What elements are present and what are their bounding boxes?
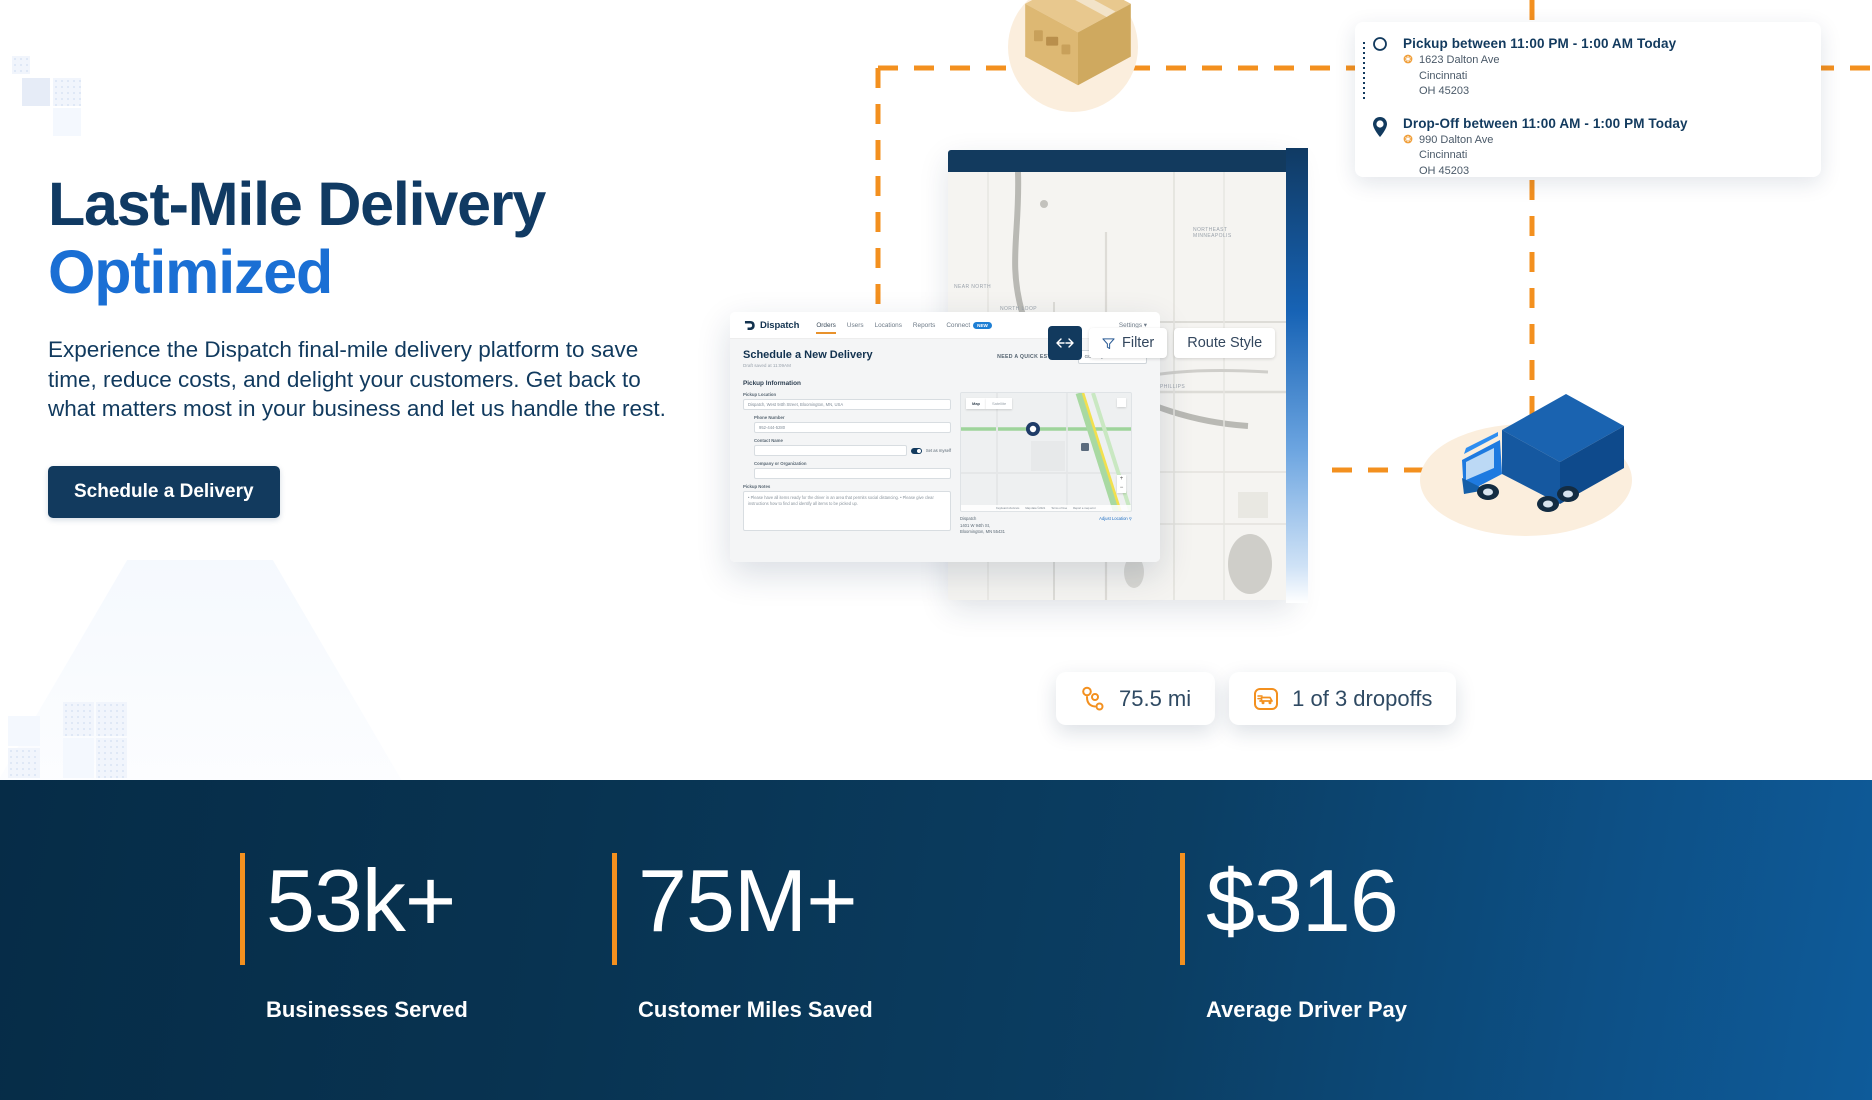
location-marker-icon — [1403, 134, 1413, 144]
dashboard-body: Schedule a New Delivery Draft saved at 1… — [730, 339, 1160, 562]
minimap-attrib-0: Keyboard shortcuts — [996, 507, 1019, 510]
map-area-label-7: PHILLIPS — [1160, 384, 1185, 390]
minimap-zoom-controls[interactable]: + − — [1117, 475, 1126, 493]
stats-band: 53k+ Businesses Served 75M+ Customer Mil… — [0, 780, 1872, 1100]
dropoff-stop: Drop-Off between 11:00 AM - 1:00 PM Toda… — [1371, 116, 1805, 180]
company-group: Company or Organization — [743, 461, 951, 479]
pickup-address: 1623 Dalton Ave Cincinnati OH 45203 — [1403, 53, 1805, 100]
pickup-address-line3: OH 45203 — [1419, 84, 1805, 100]
dropoff-address-line1: 990 Dalton Ave — [1419, 134, 1493, 146]
minimap-address-line3: Bloomington, MN 55431 — [960, 529, 1132, 536]
minimap-tab-map[interactable]: Map — [966, 398, 986, 409]
notes-group: Pickup Notes • Please have all items rea… — [743, 484, 951, 531]
decor-square-solid — [22, 78, 50, 106]
dropoff-heading: Drop-Off between 11:00 AM - 1:00 PM Toda… — [1403, 116, 1805, 131]
route-icon — [1080, 686, 1106, 712]
left-right-arrows-icon — [1056, 338, 1074, 348]
dropoff-pin-icon — [1371, 116, 1389, 138]
title-line-2-accent: Optimiz — [48, 238, 263, 306]
minimap-roads — [961, 393, 1132, 512]
phone-group: Phone Number 952-444-5280 — [743, 415, 951, 433]
company-label: Company or Organization — [754, 461, 951, 466]
location-marker-icon — [1403, 54, 1413, 64]
nav-item-locations[interactable]: Locations — [875, 322, 902, 329]
decor-square-dot-tiny — [12, 56, 30, 74]
minimap-zoom-out[interactable]: − — [1117, 484, 1126, 493]
stat-accent-bar — [612, 853, 617, 965]
filter-label: Filter — [1122, 335, 1154, 351]
resize-panel-button[interactable] — [1048, 326, 1082, 360]
stat-accent-bar — [1180, 853, 1185, 965]
decor-square-bl-2 — [8, 748, 40, 778]
package-box-icon — [1012, 0, 1144, 94]
pickup-form-right: Map Satellite + − Keyboard shortcuts — [960, 392, 1132, 536]
dispatch-logo-icon — [743, 319, 756, 332]
dropoff-address: 990 Dalton Ave Cincinnati OH 45203 — [1403, 133, 1805, 180]
phone-number-label: Phone Number — [754, 415, 951, 420]
minimap-zoom-in[interactable]: + — [1117, 475, 1126, 484]
stat-average-driver-pay: $316 Average Driver Pay — [1132, 857, 1698, 1023]
minimap-fullscreen-icon[interactable] — [1117, 398, 1126, 407]
nav-item-reports[interactable]: Reports — [913, 322, 935, 329]
pickup-circle-icon — [1371, 36, 1389, 58]
map-toolbar: Filter Route Style — [1048, 326, 1275, 360]
stat-label: Businesses Served — [266, 997, 566, 1023]
contact-name-input[interactable] — [754, 445, 907, 456]
nav-item-orders[interactable]: Orders — [816, 322, 836, 329]
route-stat-chips: 75.5 mi 1 of 3 dropoffs — [1056, 672, 1456, 725]
map-edge-gradient — [1286, 148, 1308, 603]
landing-page: Last-Mile Delivery Optimized Experience … — [0, 0, 1872, 1100]
map-area-label-1: NEAR NORTH — [954, 284, 991, 290]
stat-businesses-served: 53k+ Businesses Served — [0, 857, 566, 1023]
title-line-2-rest: ed — [263, 238, 332, 306]
pickup-location-value: Dispatch, West 94th Street, Bloomington,… — [748, 402, 843, 407]
contact-name-label: Contact Name — [754, 438, 951, 443]
distance-chip[interactable]: 75.5 mi — [1056, 672, 1215, 725]
minimap-attrib-2: Terms of Use — [1051, 507, 1067, 510]
minimap-type-toggle[interactable]: Map Satellite — [966, 398, 1012, 409]
distance-label: 75.5 mi — [1119, 686, 1191, 712]
nav-item-connect[interactable]: ConnectNEW — [946, 322, 992, 329]
connect-new-badge: NEW — [973, 322, 992, 329]
minimap-attrib-1: Map data ©2021 — [1025, 507, 1045, 510]
contact-row: Set as myself — [754, 445, 951, 456]
map-card-titlebar — [948, 150, 1293, 172]
minimap-tab-satellite[interactable]: Satellite — [986, 398, 1012, 409]
minimap-attribution: Keyboard shortcuts Map data ©2021 Terms … — [961, 505, 1131, 511]
stat-customer-miles-saved: 75M+ Customer Miles Saved — [566, 857, 1132, 1023]
dropoff-address-line3: OH 45203 — [1419, 164, 1805, 180]
adjust-location-label: Adjust Location — [1099, 516, 1128, 521]
decor-square-pale — [53, 108, 81, 136]
minimap-attrib-3: Report a map error — [1073, 507, 1096, 510]
decor-square-bl-5 — [63, 738, 94, 778]
title-line-1: Last-Mile Delivery — [48, 170, 545, 238]
hero-illustration: Minneapolis NORTHEAST MINNEAPOLIS NEAR N… — [860, 0, 1872, 780]
set-as-myself-label: Set as myself — [926, 448, 951, 453]
hero-copy: Last-Mile Delivery Optimized Experience … — [48, 170, 748, 518]
dropoff-address-line2: Cincinnati — [1419, 148, 1805, 164]
hero-section: Last-Mile Delivery Optimized Experience … — [0, 0, 1872, 780]
decor-square-bl-6 — [96, 738, 127, 778]
phone-number-input[interactable]: 952-444-5280 — [754, 422, 951, 433]
nav-item-users[interactable]: Users — [847, 322, 864, 329]
pickup-notes-textarea[interactable]: • Please have all items ready for the dr… — [743, 491, 951, 531]
decor-square-bl-1 — [8, 716, 40, 746]
location-minimap[interactable]: Map Satellite + − Keyboard shortcuts — [960, 392, 1132, 512]
stat-value: 75M+ — [638, 857, 1132, 945]
company-input[interactable] — [754, 468, 951, 479]
stop-connector-line — [1363, 42, 1365, 102]
decor-square-dot — [53, 78, 81, 106]
page-title: Last-Mile Delivery Optimized — [48, 170, 748, 307]
dashboard-nav-links: Orders Users Locations Reports ConnectNE… — [816, 322, 992, 329]
route-style-label: Route Style — [1187, 335, 1262, 351]
contact-group: Contact Name Set as myself — [743, 438, 951, 456]
pickup-heading: Pickup between 11:00 PM - 1:00 AM Today — [1403, 36, 1805, 51]
pickup-stop: Pickup between 11:00 PM - 1:00 AM Today … — [1371, 36, 1805, 100]
pickup-address-line1: 1623 Dalton Ave — [1419, 54, 1500, 66]
stat-label: Average Driver Pay — [1206, 997, 1698, 1023]
decor-square-bl-4 — [96, 702, 127, 736]
pickup-notes-label: Pickup Notes — [743, 484, 951, 489]
dropoffs-label: 1 of 3 dropoffs — [1292, 686, 1432, 712]
pickup-form-left: Pickup Location Dispatch, West 94th Stre… — [743, 392, 951, 536]
decor-square-bl-3 — [63, 702, 94, 736]
stat-accent-bar — [240, 853, 245, 965]
pickup-information-heading: Pickup Information — [743, 380, 1147, 387]
pickup-location-input[interactable]: Dispatch, West 94th Street, Bloomington,… — [743, 399, 951, 410]
delivery-truck-icon — [1440, 382, 1630, 522]
vehicle-icon — [1253, 686, 1279, 712]
dropoffs-chip[interactable]: 1 of 3 dropoffs — [1229, 672, 1456, 725]
pickup-location-label: Pickup Location — [743, 392, 951, 397]
phone-number-value: 952-444-5280 — [759, 425, 785, 430]
pickup-form: Pickup Location Dispatch, West 94th Stre… — [743, 392, 1147, 536]
stat-value: $316 — [1206, 857, 1698, 945]
stat-label: Customer Miles Saved — [638, 997, 1132, 1023]
set-as-myself-toggle[interactable] — [911, 448, 922, 454]
dispatch-brand-label: Dispatch — [760, 320, 799, 331]
minimap-address: Dispatch 1401 W 94th St, Bloomington, MN… — [960, 516, 1132, 536]
hero-subtitle: Experience the Dispatch final-mile deliv… — [48, 335, 688, 425]
adjust-location-link[interactable]: Adjust Location ⚲ — [1099, 516, 1132, 523]
pickup-address-line2: Cincinnati — [1419, 69, 1805, 85]
route-stops-card: Pickup between 11:00 PM - 1:00 AM Today … — [1355, 22, 1821, 177]
map-area-label-0: NORTHEAST MINNEAPOLIS — [1193, 227, 1248, 239]
filter-icon — [1102, 337, 1115, 350]
nav-item-connect-label: Connect — [946, 322, 970, 329]
route-style-button[interactable]: Route Style — [1174, 328, 1275, 358]
filter-button[interactable]: Filter — [1089, 328, 1167, 358]
schedule-delivery-button[interactable]: Schedule a Delivery — [48, 466, 280, 518]
stat-value: 53k+ — [266, 857, 566, 945]
